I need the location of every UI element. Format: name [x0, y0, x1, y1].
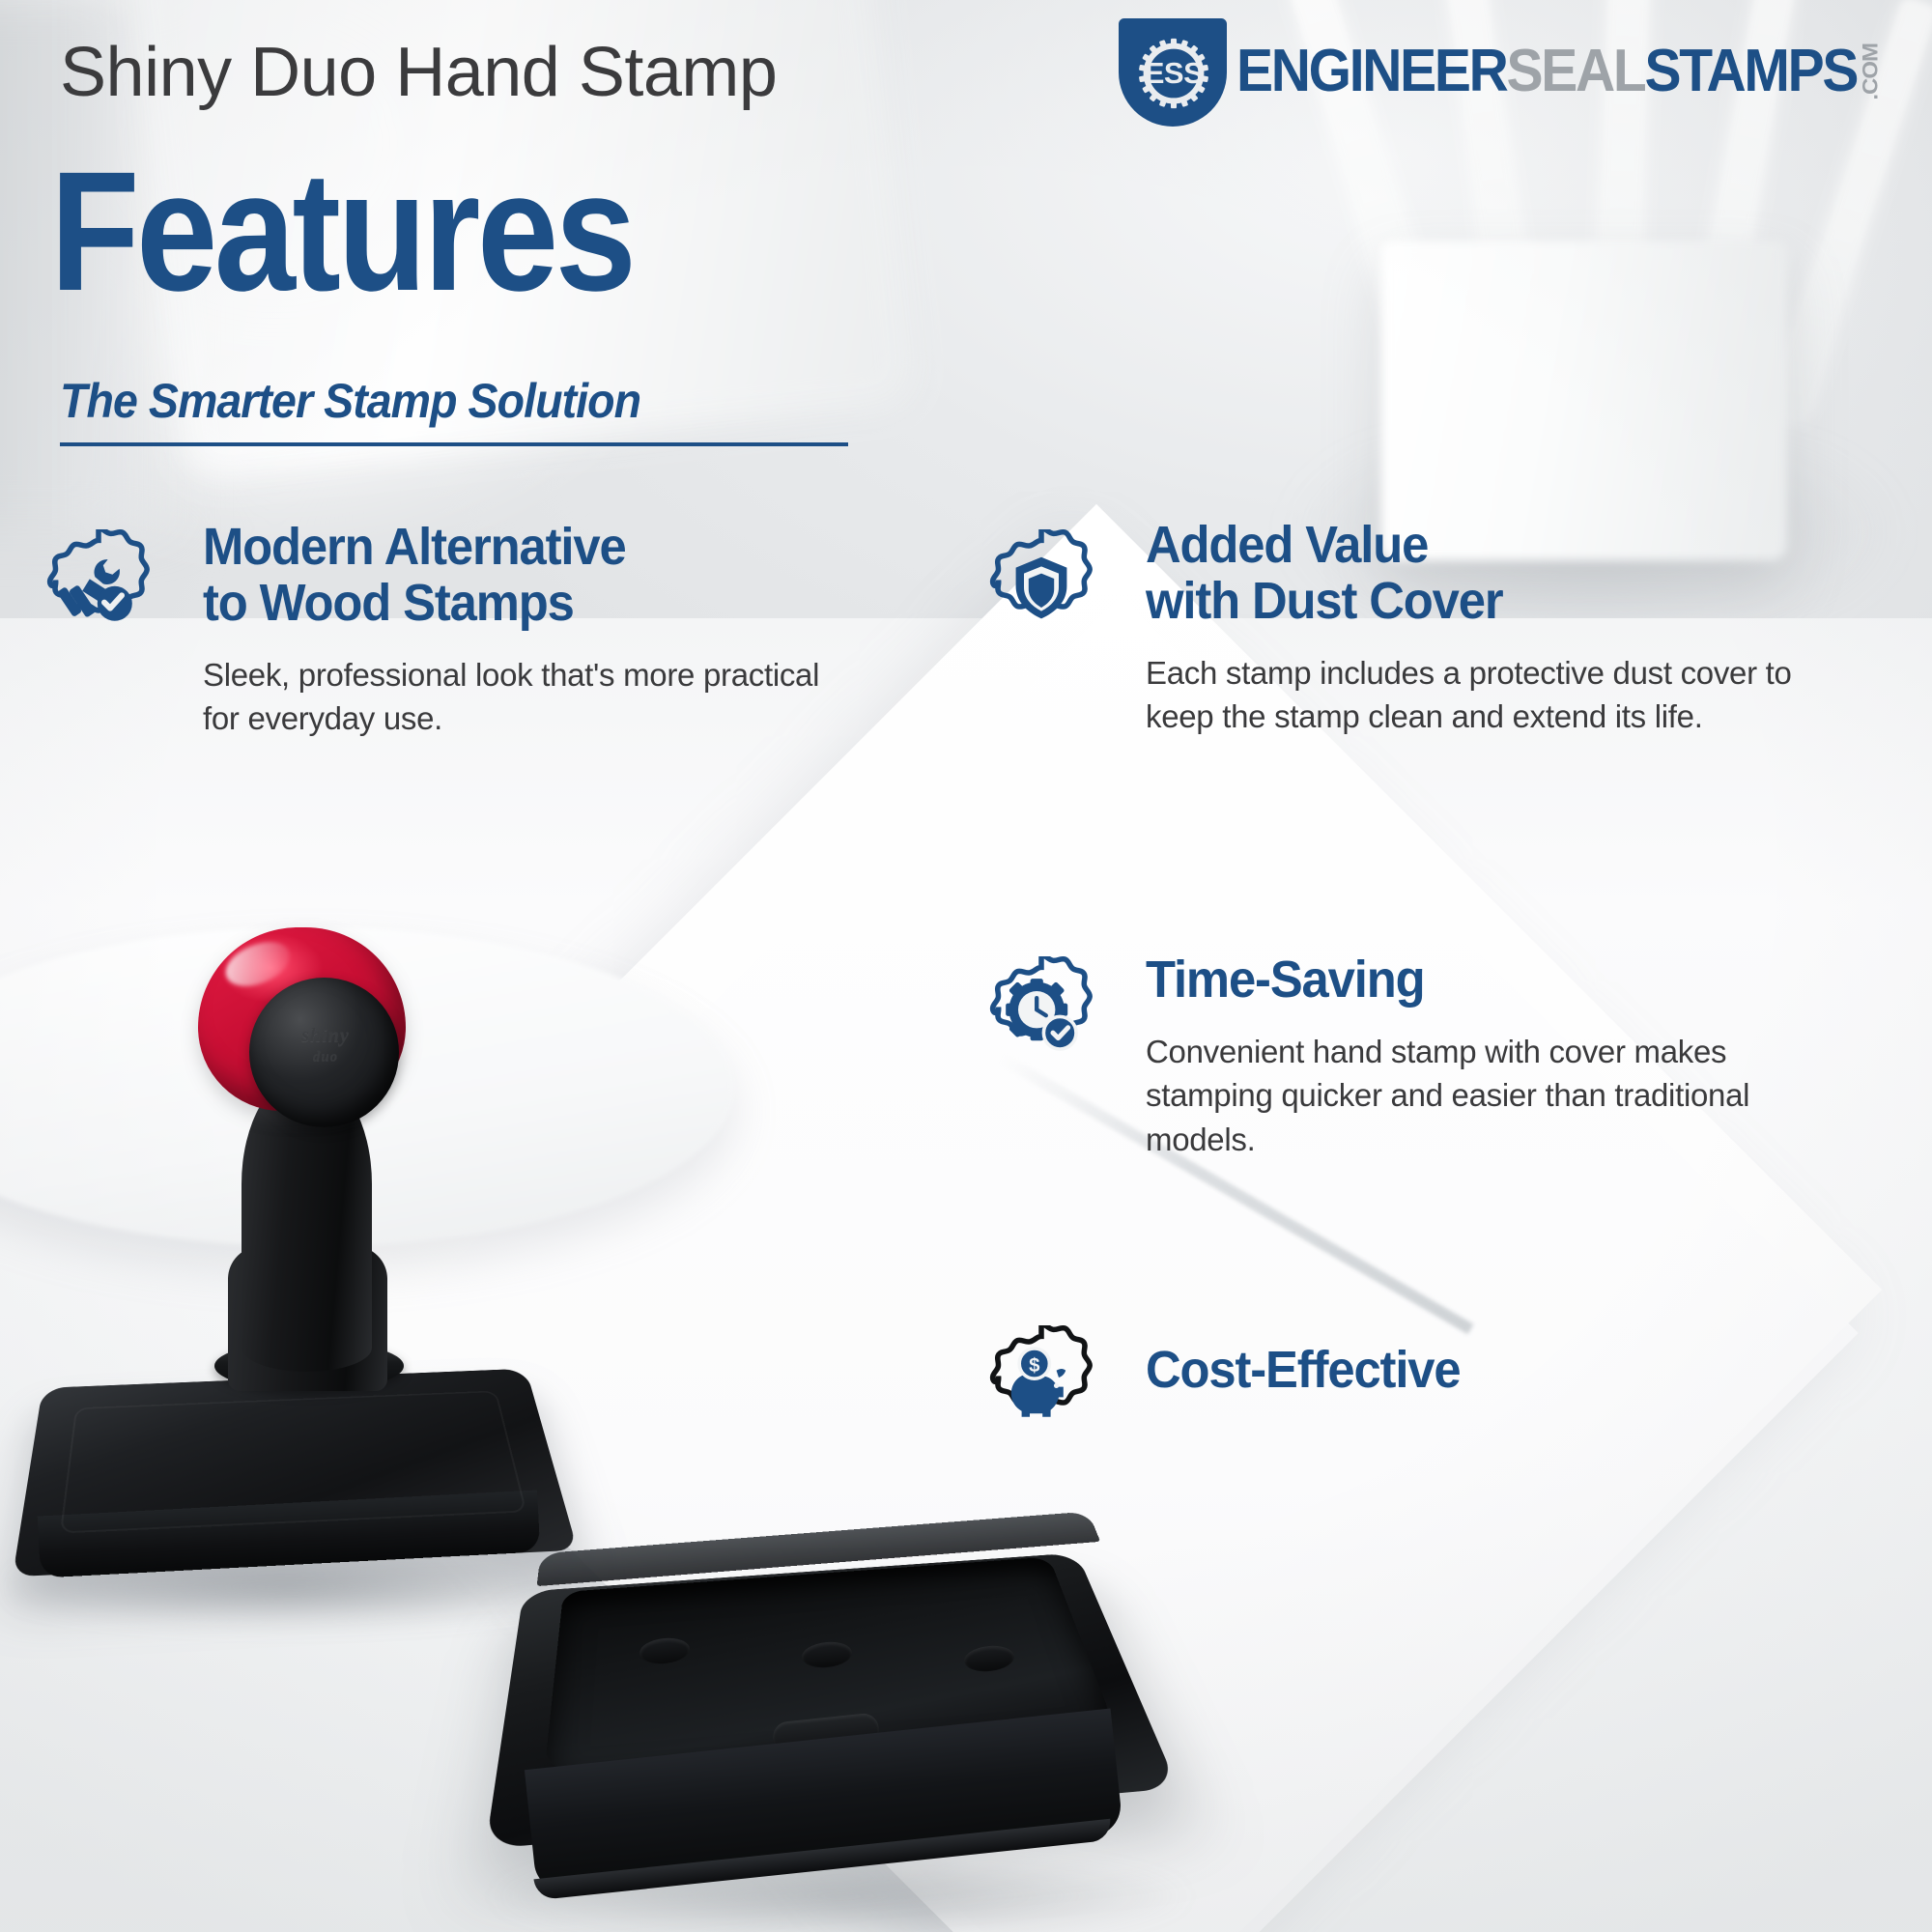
- piggy-bank-dollar-badge-icon: $: [983, 1325, 1099, 1441]
- subtitle-block: The Smarter Stamp Solution: [60, 373, 848, 446]
- feature-heading-3-line1: Time-Saving: [1146, 952, 1781, 1009]
- feature-heading-2-line1: Added Value: [1146, 518, 1781, 574]
- feature-heading-2: Added Value with Dust Cover: [1146, 518, 1781, 630]
- product-dust-cover: [483, 1449, 1207, 1932]
- page-title: Shiny Duo Hand Stamp: [60, 33, 777, 112]
- feature-heading-4: Cost-Effective: [1146, 1343, 1781, 1399]
- headline: Features: [50, 147, 633, 317]
- feature-text-3: Time-Saving Convenient hand stamp with c…: [1146, 952, 1822, 1161]
- logo-word-engineer: ENGINEER: [1236, 42, 1507, 101]
- feature-heading-1-line2: to Wood Stamps: [203, 576, 784, 632]
- feature-body-1: Sleek, professional look that's more pra…: [203, 653, 821, 741]
- subtitle-underline: [60, 442, 848, 446]
- feature-text-2: Added Value with Dust Cover Each stamp i…: [1146, 518, 1822, 739]
- logo-word-stamps: STAMPS: [1644, 42, 1857, 101]
- feature-heading-2-line2: with Dust Cover: [1146, 574, 1781, 630]
- feature-body-2: Each stamp includes a protective dust co…: [1146, 651, 1822, 739]
- ess-gear-shield-icon: ESS: [1109, 13, 1227, 130]
- logo-word-seal: SEAL: [1507, 42, 1645, 101]
- logo-word-tld: .COM: [1861, 43, 1882, 100]
- feature-text-4: Cost-Effective: [1146, 1343, 1822, 1399]
- feature-heading-4-line1: Cost-Effective: [1146, 1343, 1781, 1399]
- brand-logo[interactable]: ESS ENGINEER SEAL STAMPS .COM: [1109, 14, 1932, 129]
- infographic-page: shiny duo Shiny Duo Hand Stamp: [0, 0, 1932, 1932]
- stamp-brand-line2: duo: [269, 1048, 383, 1066]
- feature-heading-1-line1: Modern Alternative: [203, 520, 784, 576]
- logo-ess-text: ESS: [1132, 32, 1215, 115]
- svg-text:$: $: [1029, 1355, 1040, 1377]
- subtitle: The Smarter Stamp Solution: [60, 373, 793, 429]
- stamp-brand-line1: shiny: [301, 1025, 349, 1046]
- shield-badge-icon: [983, 529, 1099, 645]
- feature-text-1: Modern Alternative to Wood Stamps Sleek,…: [203, 520, 821, 741]
- stamp-brand-emboss: shiny duo: [269, 1024, 383, 1066]
- feature-heading-3: Time-Saving: [1146, 952, 1781, 1009]
- gear-clock-check-badge-icon: [983, 956, 1099, 1072]
- feature-body-3: Convenient hand stamp with cover makes s…: [1146, 1030, 1822, 1162]
- stamp-base-inset: [60, 1391, 527, 1534]
- feature-heading-1: Modern Alternative to Wood Stamps: [203, 520, 784, 632]
- logo-wordmark: ENGINEER SEAL STAMPS .COM: [1236, 42, 1882, 101]
- stamp-tool-check-badge-icon: [41, 529, 156, 645]
